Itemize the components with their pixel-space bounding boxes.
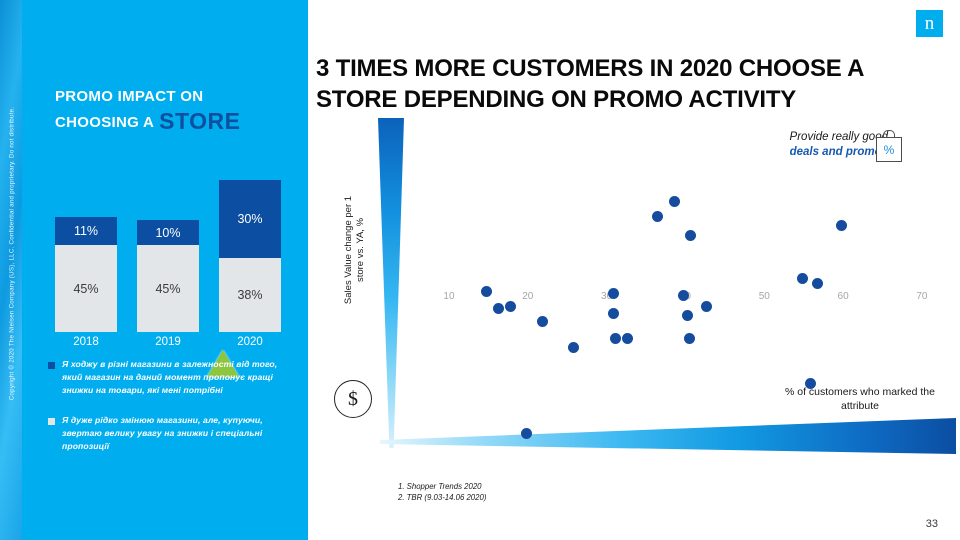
nielsen-logo-letter: n — [925, 14, 935, 33]
scatter-point — [493, 303, 504, 314]
panel-heading-accent: STORE — [159, 108, 240, 134]
scatter-point — [568, 342, 579, 353]
scatter-point — [537, 316, 548, 327]
panel-heading-line2: CHOOSING ASTORE — [55, 108, 295, 136]
scatter-point — [610, 333, 621, 344]
footnotes: 1. Shopper Trends 2020 2. TBR (9.03-14.0… — [398, 481, 486, 503]
left-panel: Copyright © 2020 The Nielsen Company (US… — [0, 0, 308, 540]
bar-segment-bottom-2018: 45% — [55, 245, 117, 332]
bar-chart-legend: Я ходжу в різні магазини в залежності ві… — [48, 358, 298, 470]
copyright-text: Copyright © 2020 The Nielsen Company (US… — [9, 4, 16, 504]
page-title: 3 TIMES MORE CUSTOMERS IN 2020 CHOOSE A … — [316, 53, 946, 115]
x-axis-tick-70: 70 — [916, 291, 927, 302]
stacked-bar-chart: 11% 45% 2018 10% 45% 2019 30% 38% 2020 — [55, 172, 285, 332]
panel-heading-line1: PROMO IMPACT ON — [55, 86, 295, 108]
legend-label-light: Я дуже рідко змінюю магазини, але, купую… — [62, 414, 298, 453]
slide-root: Copyright © 2020 The Nielsen Company (US… — [0, 0, 960, 540]
scatter-point — [684, 333, 695, 344]
scatter-point — [685, 230, 696, 241]
scatter-point — [652, 211, 663, 222]
scatter-point — [812, 278, 823, 289]
scatter-point — [481, 286, 492, 297]
y-axis-wedge — [378, 118, 404, 448]
x-axis-tick-50: 50 — [759, 291, 770, 302]
scatter-point — [622, 333, 633, 344]
bar-segment-top-2018: 11% — [55, 217, 117, 245]
page-number: 33 — [926, 518, 938, 530]
legend-item: Я дуже рідко змінюю магазини, але, купую… — [48, 414, 298, 453]
bar-segment-bottom-2019: 45% — [137, 245, 199, 332]
x-axis-caption: % of customers who marked the attribute — [770, 385, 950, 413]
x-axis-tick-60: 60 — [838, 291, 849, 302]
footnote-2: 2. TBR (9.03-14.06 2020) — [398, 492, 486, 503]
bar-segment-top-2020: 30% — [219, 180, 281, 258]
bar-segment-bottom-2020: 38% — [219, 258, 281, 332]
panel-heading-line2-text: CHOOSING A — [55, 114, 154, 131]
x-axis-wedge — [380, 418, 956, 468]
bar-column-2018: 11% 45% — [55, 217, 117, 332]
legend-label-dark: Я ходжу в різні магазини в залежності ві… — [62, 358, 298, 397]
bar-column-2020: 30% 38% — [219, 180, 281, 332]
legend-swatch-light — [48, 418, 55, 425]
bar-segment-top-2019: 10% — [137, 220, 199, 245]
scatter-point — [797, 273, 808, 284]
scatter-point — [608, 308, 619, 319]
scatter-point — [669, 196, 680, 207]
x-axis-tick-10: 10 — [443, 291, 454, 302]
x-axis-tick-20: 20 — [522, 291, 533, 302]
scatter-point — [682, 310, 693, 321]
bar-label-2019: 2019 — [137, 336, 199, 348]
legend-swatch-dark — [48, 362, 55, 369]
bar-label-2018: 2018 — [55, 336, 117, 348]
scatter-point — [836, 220, 847, 231]
footnote-1: 1. Shopper Trends 2020 — [398, 481, 486, 492]
bar-column-2019: 10% 45% — [137, 220, 199, 332]
legend-item: Я ходжу в різні магазини в залежності ві… — [48, 358, 298, 397]
scatter-point — [521, 428, 532, 439]
scatter-point — [701, 301, 712, 312]
y-axis-label: Sales Value change per 1 store vs. YA, % — [343, 190, 367, 310]
scatter-point — [505, 301, 516, 312]
scatter-chart: Sales Value change per 1 store vs. YA, %… — [316, 118, 956, 478]
bar-label-2020: 2020 — [219, 336, 281, 348]
panel-heading: PROMO IMPACT ON CHOOSING ASTORE — [55, 86, 295, 136]
scatter-point — [608, 288, 619, 299]
nielsen-logo: n — [916, 10, 943, 37]
dollar-badge-icon: $ — [334, 380, 372, 418]
